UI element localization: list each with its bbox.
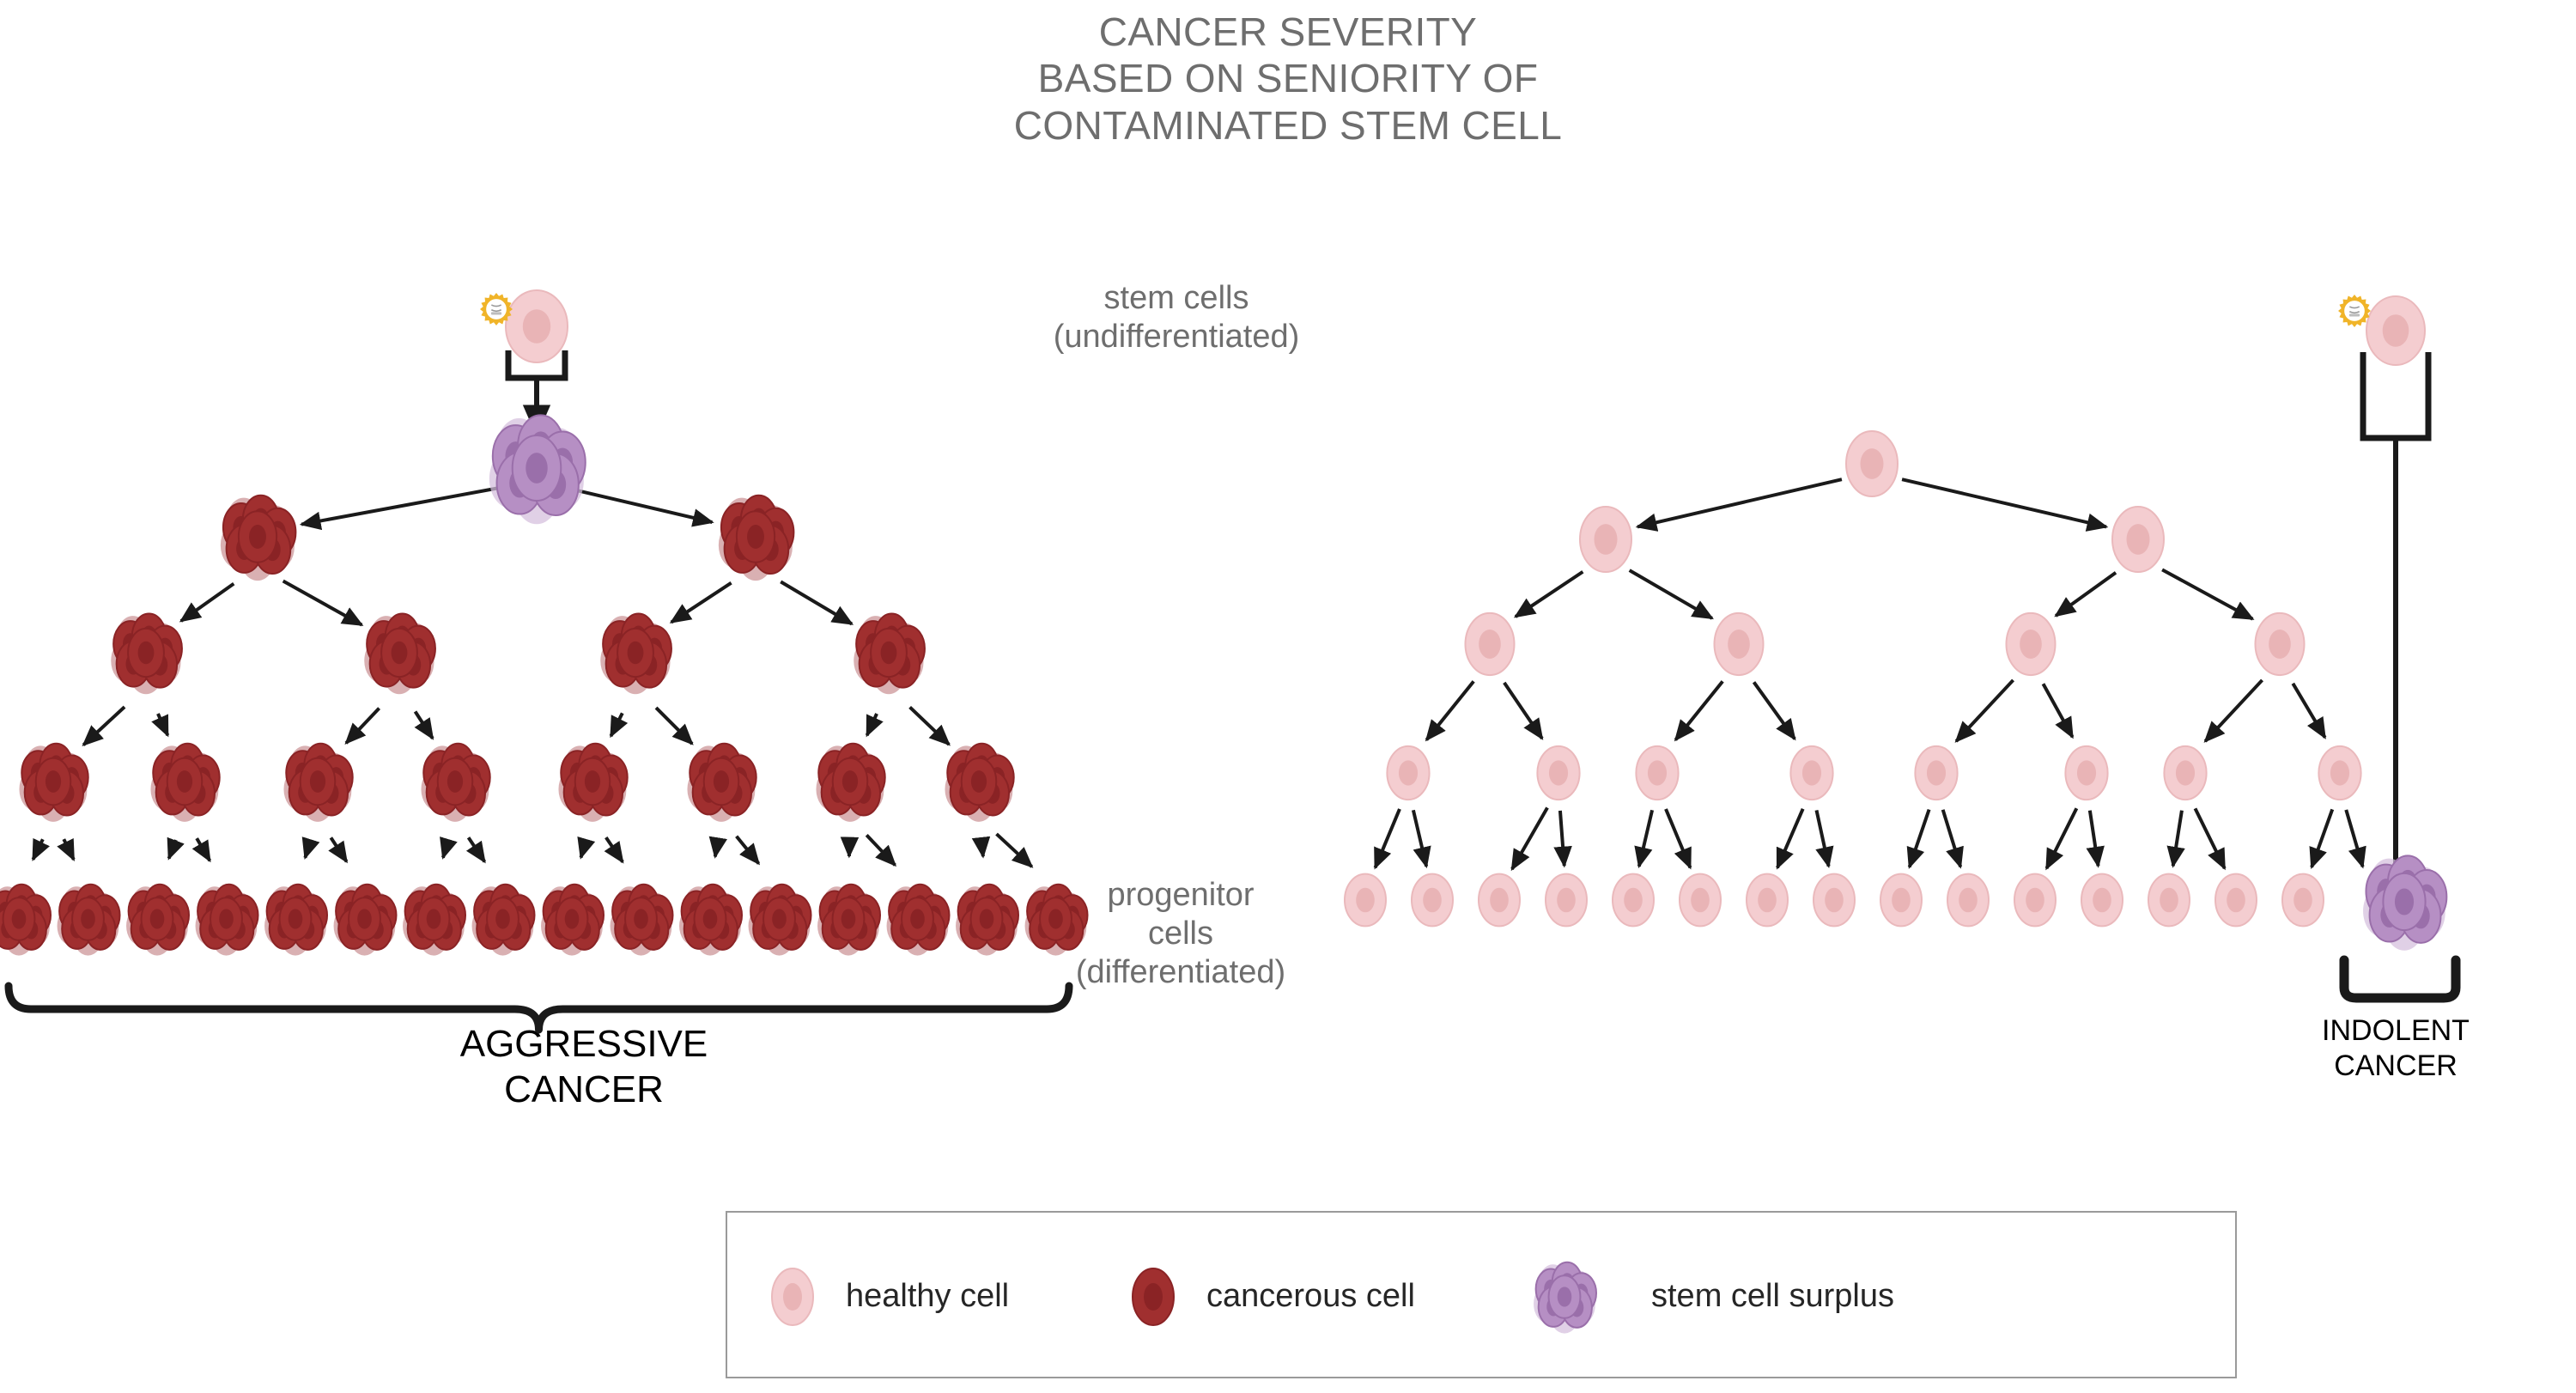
cluster-cell [3, 897, 35, 940]
legend-item-healthy-cell: healthy cell [762, 1213, 1009, 1380]
division-arrow [283, 581, 362, 625]
division-arrow [2346, 810, 2362, 867]
division-arrow [2043, 684, 2072, 737]
cancerous-cell-cluster [1025, 885, 1088, 956]
cluster-cell [575, 758, 611, 806]
cancerous-cell-cluster [472, 885, 535, 956]
cancerous-cell-cluster [600, 613, 671, 694]
division-arrow [2205, 680, 2262, 741]
cluster-cell [971, 897, 1003, 940]
healthy-cell [1613, 874, 1654, 927]
indolent-cancer-bracket [2344, 960, 2456, 998]
cluster-cell [2383, 873, 2425, 930]
cluster-cell [239, 511, 276, 563]
cancerous-cell-cluster [403, 885, 465, 956]
cancerous-cell-cluster [150, 744, 219, 822]
division-arrow [737, 836, 759, 864]
division-arrow [301, 488, 498, 524]
stem-cell-surplus-cluster-indolent [2363, 855, 2446, 950]
division-arrow [606, 837, 623, 861]
division-arrow [2090, 811, 2099, 867]
stem-cell-surplus-cluster-root [489, 415, 586, 524]
division-arrow [2046, 808, 2076, 868]
healthy-cell [1387, 746, 1429, 800]
cluster-cell [210, 897, 242, 940]
cancerous-cell-cluster [945, 744, 1013, 822]
cancerous-cell-cluster [854, 613, 925, 694]
division-arrow [416, 712, 433, 739]
cancerous-cell-cluster [334, 885, 397, 956]
cluster-cell [438, 758, 473, 806]
healthy-cell [2112, 507, 2164, 572]
healthy-cell [2007, 613, 2056, 675]
division-arrow [1516, 572, 1583, 617]
division-arrow [64, 839, 74, 860]
healthy-cell [2282, 874, 2324, 927]
healthy-cell [1466, 613, 1515, 675]
healthy-cell [1636, 746, 1678, 800]
division-arrow [781, 581, 852, 624]
healthy-cell [1546, 874, 1587, 927]
healthy-cell [1747, 874, 1788, 927]
cancerous-cell-cluster [558, 744, 627, 822]
cluster-cell [349, 897, 380, 940]
healthy-cell [1580, 507, 1631, 572]
division-arrow [197, 838, 210, 861]
division-arrow [2195, 808, 2224, 868]
cancerous-cell-cluster [58, 885, 120, 956]
cluster-cell [695, 897, 726, 940]
cluster-cell [763, 897, 795, 940]
healthy-cell [2148, 874, 2190, 927]
division-arrow [1910, 810, 1929, 867]
healthy-cell [2256, 613, 2305, 675]
healthy-cell [1880, 874, 1922, 927]
division-arrow [2056, 573, 2116, 616]
cancerous-cell-cluster [887, 885, 950, 956]
division-arrow [611, 713, 622, 736]
healthy-cell [2081, 874, 2123, 927]
cancerous-cell-cluster [0, 885, 51, 956]
cancerous-cell-cluster [19, 744, 88, 822]
legend-label-healthy-cell: healthy cell [846, 1278, 1009, 1315]
division-arrow [581, 841, 586, 858]
legend-item-stem-cell-surplus: stem cell surplus [1500, 1213, 1894, 1380]
cancerous-cell-cluster [264, 885, 327, 956]
division-arrow [1943, 810, 1960, 867]
division-arrow [83, 707, 125, 745]
indolent-apex-stem-cell [2366, 296, 2425, 365]
cluster-cell [301, 758, 336, 806]
division-arrow [1630, 570, 1712, 618]
division-arrow [997, 834, 1032, 867]
division-arrow [469, 837, 485, 861]
aggressive-apex-stem-cell [506, 290, 568, 362]
cancerous-cell-cluster [749, 885, 811, 956]
division-arrow [1639, 810, 1652, 866]
healthy-cell [1814, 874, 1855, 927]
healthy-cell [1715, 613, 1764, 675]
division-arrow [346, 709, 380, 744]
division-arrow [158, 714, 167, 735]
mutation-badge-aggressive [480, 293, 513, 325]
mutation-badge-group [480, 293, 2371, 327]
cancerous-cell-cluster [364, 613, 435, 694]
legend: healthy cell cancerous cell stem cell su… [726, 1211, 2237, 1378]
healthy-cell [1345, 874, 1386, 927]
healthy-cell [1790, 746, 1832, 800]
healthy-cell [1537, 746, 1579, 800]
division-arrow [181, 584, 234, 621]
cancerous-cell-cluster [719, 496, 794, 581]
cancerous-cell-cluster [687, 744, 756, 822]
cluster-cell [128, 629, 164, 677]
cluster-cell [962, 758, 997, 806]
cluster-cell [704, 758, 739, 806]
healthy-cell [2014, 874, 2056, 927]
cluster-cell [167, 758, 203, 806]
division-arrow [575, 490, 713, 523]
division-arrow [866, 835, 895, 865]
cancerous-cell-cluster [541, 885, 604, 956]
division-arrow [1817, 810, 1829, 866]
cluster-cell [1040, 897, 1072, 940]
cluster-cell [871, 629, 907, 677]
cluster-cell [72, 897, 104, 940]
cluster-cell [418, 897, 450, 940]
legend-label-stem-cell-surplus: stem cell surplus [1651, 1278, 1894, 1315]
cancerous-cell-cluster [283, 744, 352, 822]
mutation-badge-indolent [2338, 295, 2371, 327]
stem-cell-surplus-icon [1500, 1232, 1629, 1361]
division-arrow [1426, 681, 1473, 739]
cancerous-cell-cluster [817, 885, 880, 956]
division-arrow [981, 842, 983, 856]
healthy-cell [2164, 746, 2206, 800]
division-arrow [1675, 681, 1722, 739]
cluster-cell [487, 897, 519, 940]
division-arrow [1666, 809, 1690, 867]
healthy-cell [1412, 874, 1453, 927]
cluster-cell [513, 435, 562, 501]
cluster-cell [833, 897, 865, 940]
division-arrow [33, 839, 42, 860]
cancerous-cell-icon [1122, 1266, 1184, 1328]
cancerous-cell-cluster [196, 885, 258, 956]
division-arrow [910, 707, 950, 744]
cluster-cell [625, 897, 657, 940]
division-arrow [1956, 680, 2013, 741]
division-arrow [1376, 809, 1400, 867]
healthy-cell [2065, 746, 2107, 800]
division-arrow [2312, 809, 2332, 867]
cancerous-cell-cluster [816, 744, 884, 822]
division-arrow [2162, 569, 2252, 618]
division-arrow [1504, 683, 1542, 739]
cancerous-cell-cluster [956, 885, 1018, 956]
division-arrow [2293, 684, 2324, 738]
cluster-cell [902, 897, 933, 940]
cancerous-cell-cluster [221, 496, 296, 581]
division-arrow [1902, 479, 2106, 526]
division-arrow [1637, 479, 1842, 526]
healthy-cell-icon [762, 1266, 823, 1328]
division-arrow [443, 841, 448, 858]
division-arrow [331, 837, 346, 861]
division-arrow [1512, 808, 1547, 869]
cancerous-cell-cluster [126, 885, 189, 956]
division-arrow [1777, 809, 1803, 868]
division-arrow [656, 708, 692, 744]
division-arrow [1754, 682, 1795, 739]
cluster-cell [617, 629, 653, 677]
cluster-cell [381, 629, 417, 677]
healthy-cell [1915, 746, 1957, 800]
cluster-cell [556, 897, 588, 940]
healthy-cell [1947, 874, 1989, 927]
healthy-cell [2215, 874, 2257, 927]
cancerous-cell-cluster [111, 613, 182, 694]
division-arrow [715, 842, 718, 857]
diagram-graphics [0, 0, 2576, 1393]
division-arrow [305, 841, 310, 858]
cluster-cell [833, 758, 868, 806]
division-arrow [2173, 811, 2182, 867]
division-arrow [1560, 811, 1564, 866]
legend-item-cancerous-cell: cancerous cell [1122, 1213, 1415, 1380]
cluster-cell [36, 758, 71, 806]
cancerous-cell-cluster [679, 885, 742, 956]
cell-group [0, 290, 2446, 956]
division-arrow [867, 714, 877, 735]
healthy-cell [1680, 874, 1721, 927]
cluster-cell [142, 897, 173, 940]
healthy-cell [2318, 746, 2360, 800]
diagram-canvas: CANCER SEVERITY BASED ON SENIORITY OF CO… [0, 0, 2576, 1393]
legend-label-cancerous-cell: cancerous cell [1206, 1278, 1415, 1315]
division-arrow [169, 840, 176, 858]
division-arrow [671, 583, 732, 623]
cancerous-cell-cluster [611, 885, 673, 956]
aggressive-cancer-brace [9, 986, 1069, 1030]
healthy-cell [1479, 874, 1520, 927]
cluster-cell [737, 511, 775, 563]
cancerous-cell-cluster [421, 744, 489, 822]
indolent-root-cell [1846, 431, 1898, 496]
cluster-cell [280, 897, 312, 940]
division-arrow [1413, 810, 1426, 866]
